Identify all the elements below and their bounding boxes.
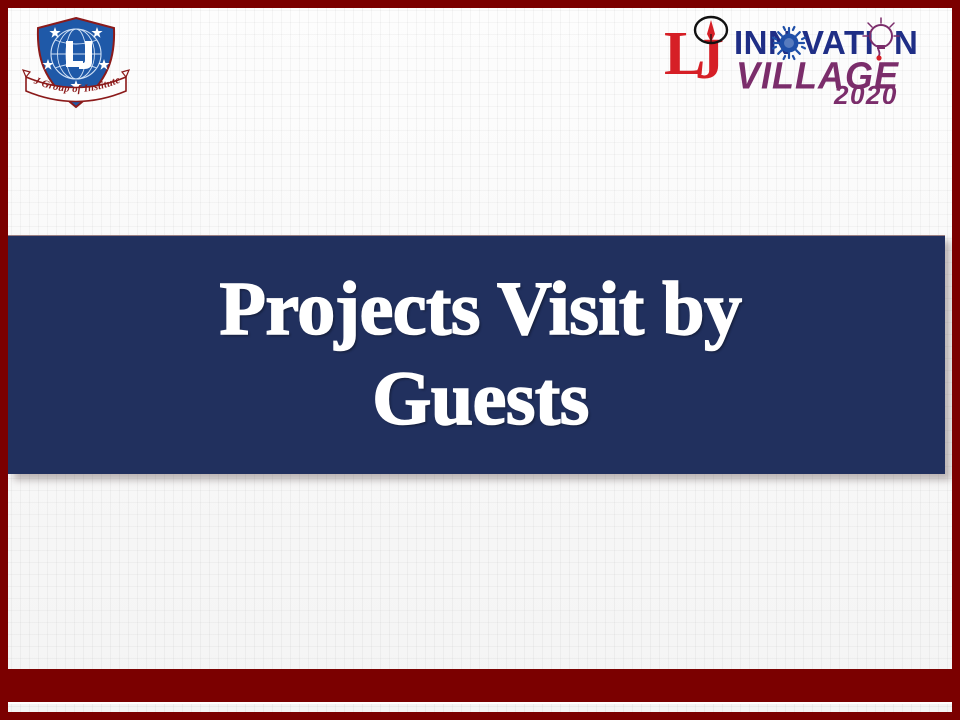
title-banner: Projects Visit by Guests: [8, 235, 945, 474]
page-title-line-2: Guests: [372, 357, 589, 441]
lj-group-crest-logo: LJ Group of Institutes: [22, 14, 130, 116]
page-title: Projects Visit by Guests: [93, 265, 861, 444]
iv-lj-monogram-icon: L J: [664, 17, 727, 91]
page-title-line-1: Projects Visit by: [219, 267, 741, 351]
slide-canvas: LJ Group of Institutes L J INN VATI: [8, 8, 952, 712]
footer-bar: [8, 669, 952, 704]
iv-year-wordmark: 2020: [833, 80, 898, 104]
presentation-slide: LJ Group of Institutes L J INN VATI: [0, 0, 960, 720]
innovation-village-logo: L J INN VATI N: [662, 12, 942, 104]
